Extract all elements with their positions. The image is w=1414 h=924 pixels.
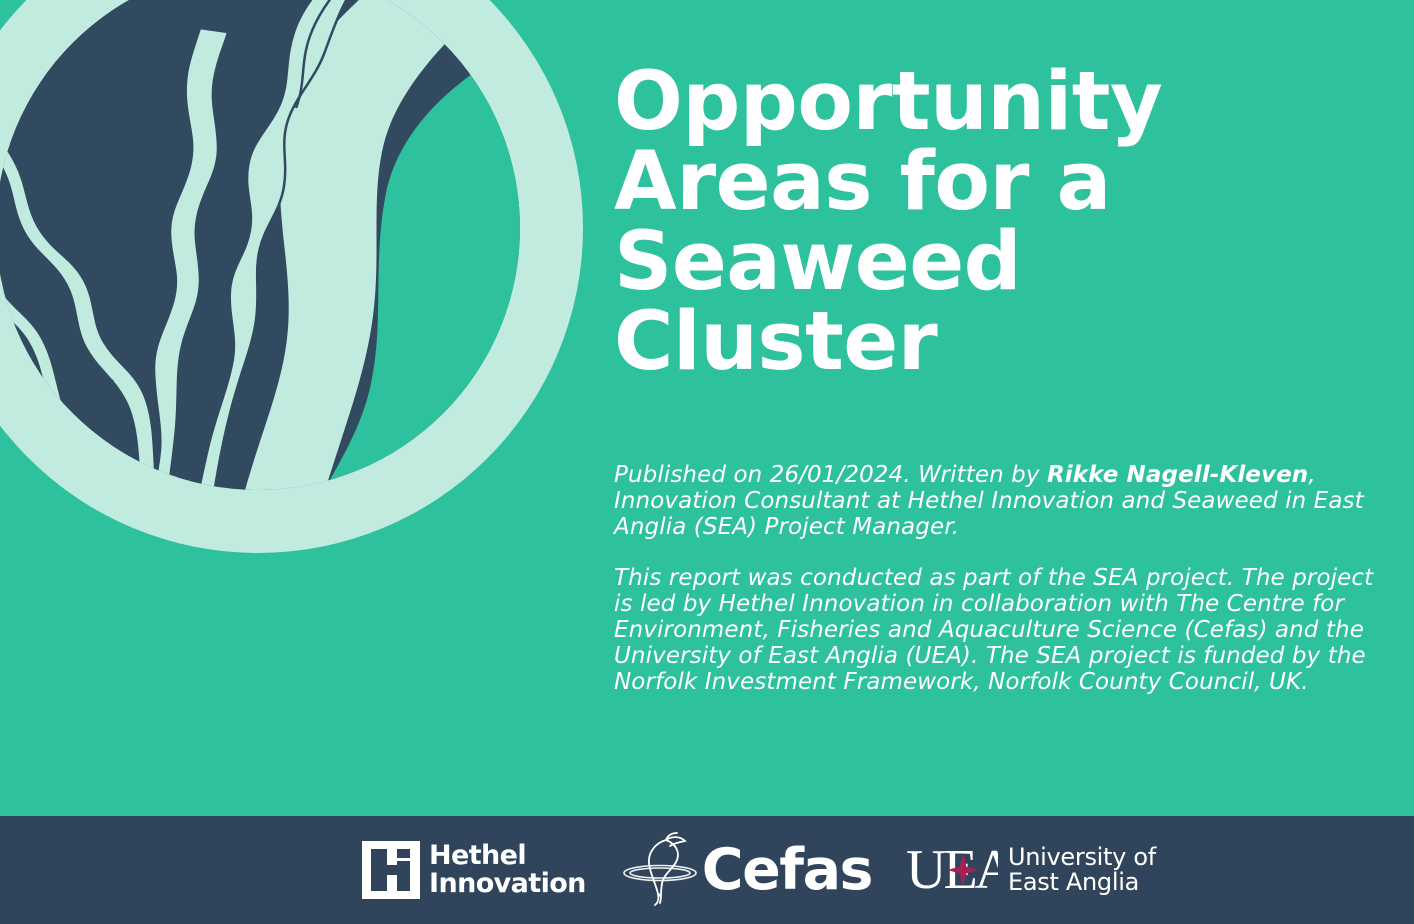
seaweed-frond-3 <box>0 108 156 494</box>
seaweed-frond-4 <box>0 178 94 494</box>
seaweed-frond-1 <box>198 0 372 494</box>
artwork-mint-band <box>244 0 492 494</box>
hethel-innovation-logo: Hethel Innovation <box>362 841 586 899</box>
seaweed-circle-illustration <box>0 0 584 573</box>
cefas-fish-icon <box>622 832 700 908</box>
uea-wordmark: University of East Anglia <box>1008 845 1156 895</box>
uea-monogram-icon: UEA <box>906 842 998 898</box>
cefas-wordmark: Cefas <box>702 842 872 899</box>
hethel-hi-monogram-icon <box>362 841 420 899</box>
byline-paragraph: Published on 26/01/2024. Written by Rikk… <box>614 462 1374 540</box>
hethel-wordmark: Hethel Innovation <box>429 842 586 898</box>
artwork-outer-ring <box>0 0 583 553</box>
meta-block: Published on 26/01/2024. Written by Rikk… <box>614 462 1374 695</box>
byline-author: Rikke Nagell-Kleven <box>1047 462 1308 488</box>
poster-canvas: Opportunity Areas for a Seaweed Cluster … <box>0 0 1414 924</box>
cefas-logo: Cefas <box>622 832 872 908</box>
partner-logo-bar: Hethel Innovation <box>0 816 1414 924</box>
artwork-teal-wedge <box>322 38 552 494</box>
description-paragraph: This report was conducted as part of the… <box>614 565 1374 695</box>
artwork-navy-disc <box>0 0 520 490</box>
byline-prefix: Published on 26/01/2024. Written by <box>614 462 1047 488</box>
uea-logo: UEA University of East Anglia <box>906 842 1156 898</box>
seaweed-frond-2 <box>152 28 228 494</box>
seaweed-inner-lines <box>0 0 364 172</box>
seaweed-stems <box>112 364 218 494</box>
page-title: Opportunity Areas for a Seaweed Cluster <box>614 62 1254 382</box>
content-column: Opportunity Areas for a Seaweed Cluster … <box>614 0 1384 816</box>
